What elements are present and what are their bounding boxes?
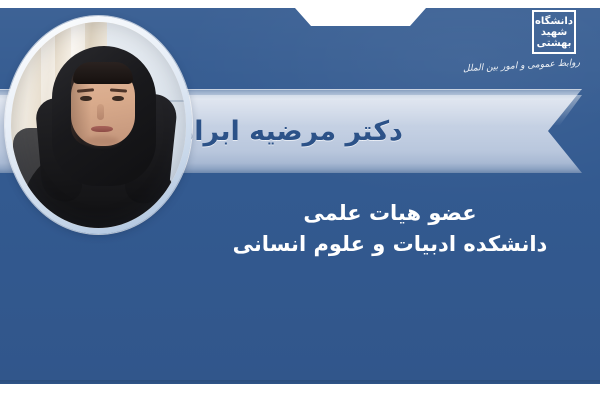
- logo-mark-line-1: دانشگاه: [535, 16, 573, 27]
- photo-nose: [97, 104, 104, 120]
- avatar-photo: [11, 22, 186, 228]
- photo-eye-left: [80, 96, 92, 101]
- public-relations-caption: روابط عمومی و امور بین الملل: [488, 58, 580, 73]
- university-logo-mark: دانشگاه شهید بهشتی: [532, 10, 576, 54]
- logo-mark-line-2: شهید: [541, 27, 567, 38]
- profile-card: دانشگاه شهید بهشتی روابط عمومی و امور بی…: [0, 0, 600, 400]
- panel-bottom-edge: [0, 380, 600, 384]
- photo-eye-right: [112, 96, 124, 101]
- position-title: عضو هیات علمی: [190, 198, 590, 229]
- position-block: عضو هیات علمی دانشکده ادبیات و علوم انسا…: [190, 198, 590, 260]
- logo-mark-line-3: بهشتی: [537, 38, 572, 49]
- university-logo-mark-text: دانشگاه شهید بهشتی: [536, 14, 572, 50]
- photo-hair: [73, 62, 133, 84]
- faculty-name: دانشکده ادبیات و علوم انسانی: [190, 229, 590, 260]
- university-logo: دانشگاه شهید بهشتی روابط عمومی و امور بی…: [486, 8, 582, 88]
- avatar: [5, 16, 192, 234]
- photo-chin-shadow: [85, 136, 119, 146]
- photo-mouth: [91, 126, 113, 132]
